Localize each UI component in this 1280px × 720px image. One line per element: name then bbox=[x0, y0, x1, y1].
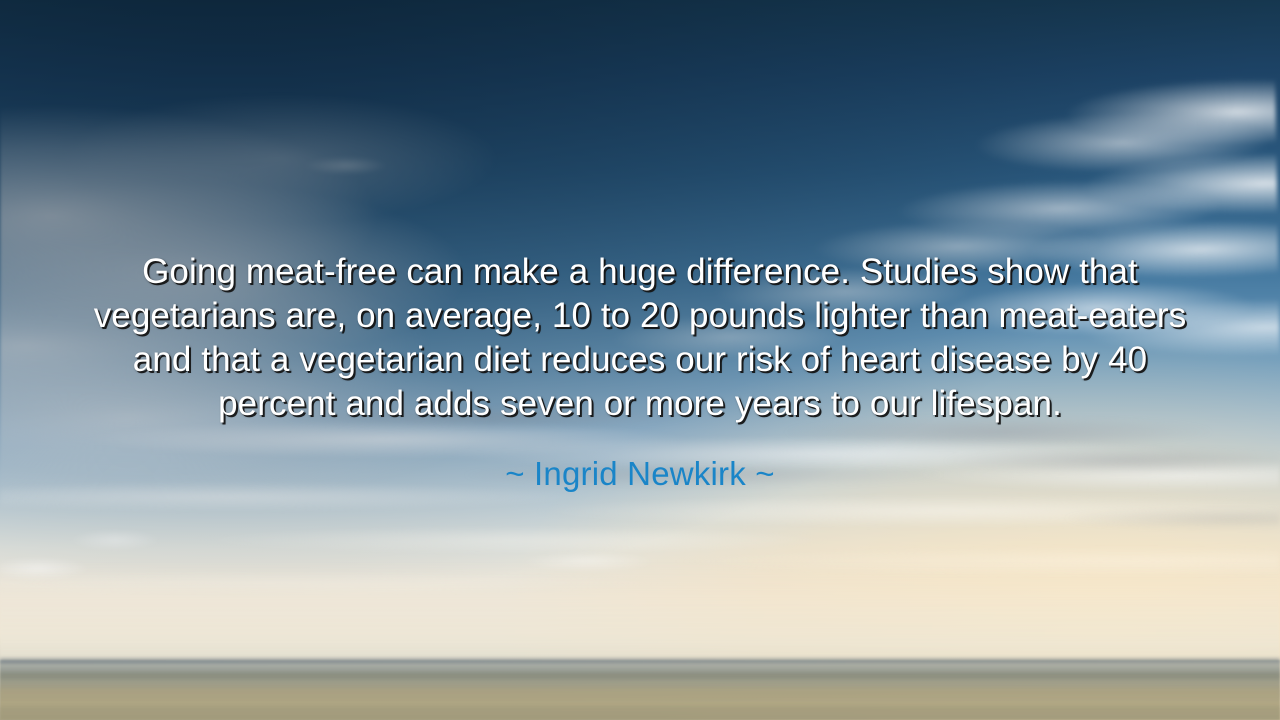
quote-attribution: ~ Ingrid Newkirk ~ bbox=[90, 426, 1190, 494]
quote-text: Going meat-free can make a huge differen… bbox=[90, 250, 1190, 426]
landscape-terrain-bands bbox=[0, 658, 1280, 720]
quote-image-canvas: Going meat-free can make a huge differen… bbox=[0, 0, 1280, 720]
quote-block: Going meat-free can make a huge differen… bbox=[0, 250, 1280, 494]
